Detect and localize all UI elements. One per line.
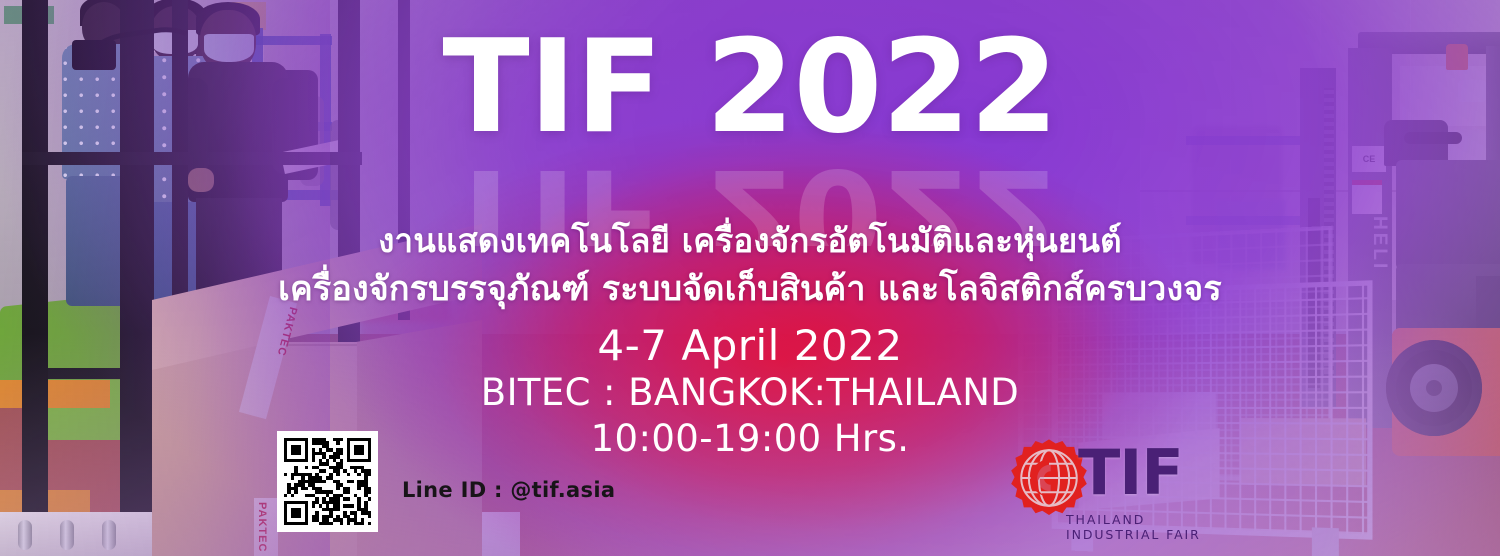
- forklift-ce-label: CE: [1352, 146, 1386, 172]
- blue-rack-beam-1: [252, 36, 332, 45]
- rack-clamp: [72, 40, 116, 70]
- forklift-wheel-hub: [1426, 380, 1442, 396]
- forklift-chassis-upper: [1396, 160, 1500, 270]
- background-blue-beam-2: [1186, 216, 1306, 225]
- orange-pallet-1: [0, 380, 110, 408]
- rack-post-2: [120, 0, 154, 556]
- tif-2022-banner: PAKTEC PAKTEC CE HELI: [0, 0, 1500, 556]
- tif-logo-tagline: THAILAND INDUSTRIAL FAIR: [1066, 512, 1206, 542]
- tradeshow-photo-background: PAKTEC PAKTEC CE HELI: [0, 0, 1500, 556]
- forklift-warning-beacon: [1446, 44, 1468, 70]
- cage-foot-right: [1312, 527, 1339, 556]
- conveyor-roller: [18, 520, 32, 550]
- visitor-4-hand: [188, 168, 214, 192]
- line-id-label: Line ID : @tif.asia: [402, 478, 615, 502]
- tif-logo[interactable]: TIF THAILAND INDUSTRIAL FAIR: [1006, 432, 1206, 540]
- qr-code-matrix: [284, 438, 371, 525]
- forklift-work-lamp: [1458, 80, 1486, 102]
- forklift-warning-label: [1352, 180, 1382, 214]
- rack-crossbeam-1: [22, 152, 362, 165]
- conveyor-roller: [102, 520, 116, 550]
- rack-post-1: [22, 0, 48, 556]
- tif-wordmark: TIF: [1078, 442, 1183, 504]
- qr-code-icon[interactable]: [277, 431, 378, 532]
- visitor-4-face-mask: [204, 34, 254, 62]
- box-tape-brand-label-2: PAKTEC: [256, 502, 268, 552]
- conveyor-roller: [60, 520, 74, 550]
- forklift-steering-wheel: [1404, 132, 1462, 144]
